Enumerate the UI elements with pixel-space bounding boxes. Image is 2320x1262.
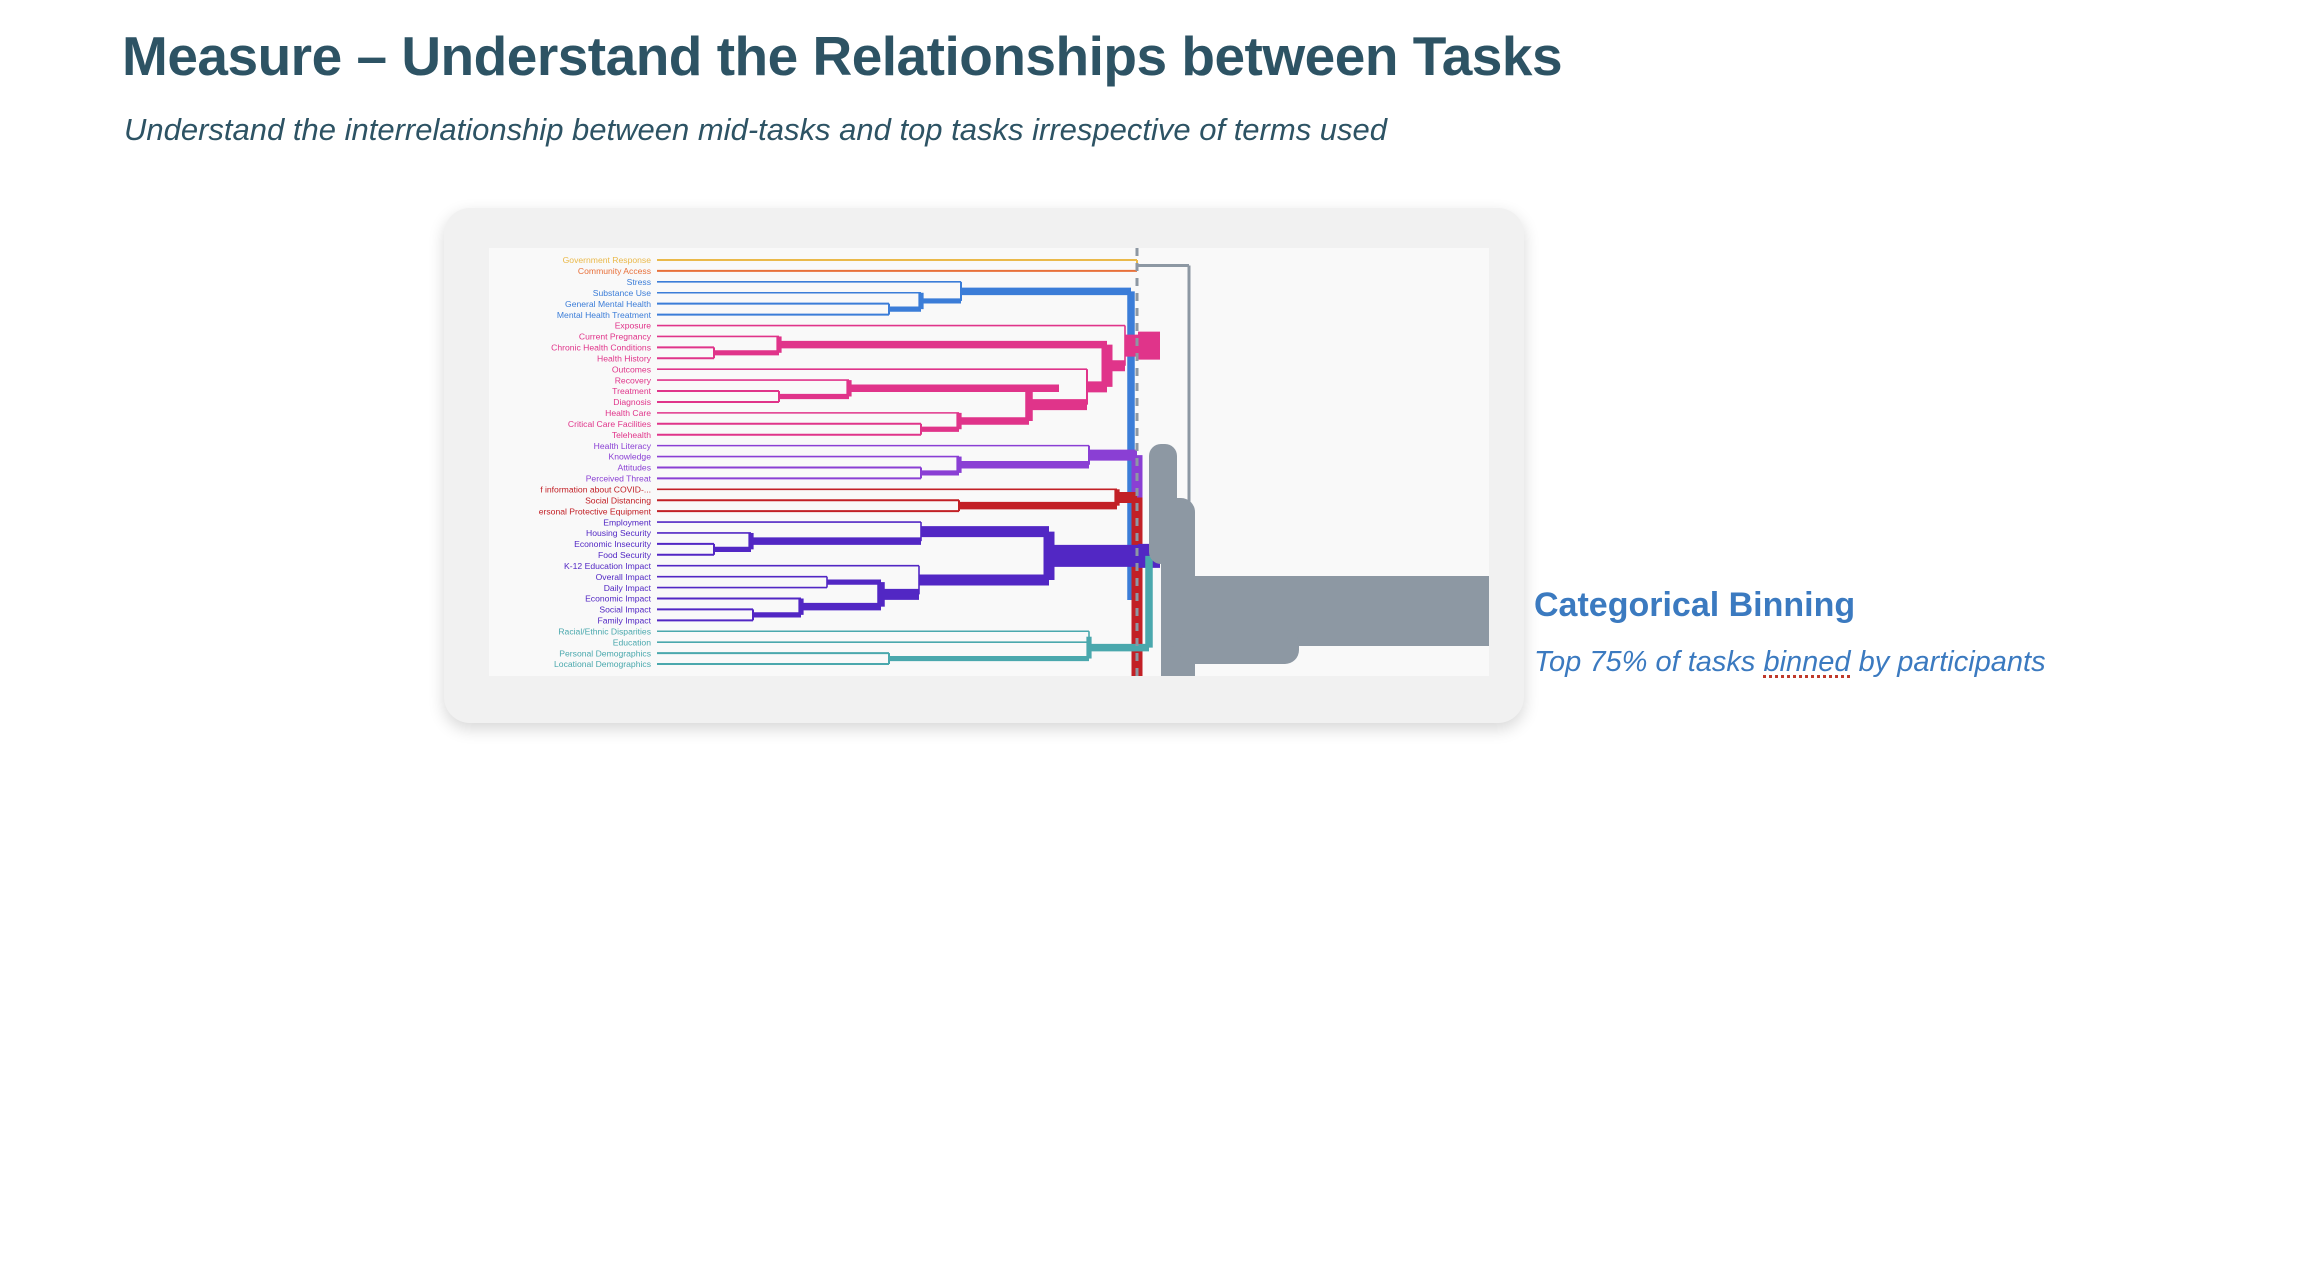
- dendrogram-leaf-label: Economic Impact: [585, 594, 652, 604]
- dendrogram-leaf-label: Health Care: [605, 408, 651, 418]
- dendrogram-leaf-label: Government Response: [563, 255, 652, 265]
- page-title: Measure – Understand the Relationships b…: [122, 24, 1562, 88]
- dendrogram-leaf-label: Recovery: [615, 375, 652, 385]
- dendrogram-leaf-label: K-12 Education Impact: [564, 561, 652, 571]
- dendrogram-leaf-label: Locational Demographics: [554, 659, 651, 669]
- dendrogram-leaf-label: Family Impact: [598, 616, 652, 626]
- callout-subtitle-misspelling: binned: [1763, 646, 1850, 678]
- dendrogram-leaf-label: Economic Insecurity: [574, 539, 652, 549]
- dendrogram-leaf-label: ersonal Protective Equipment: [539, 506, 652, 516]
- dendrogram-leaf-label: Mental Health Treatment: [557, 310, 652, 320]
- dendrogram-leaf-label: Telehealth: [612, 430, 651, 440]
- dendrogram-leaf-label: Social Distancing: [585, 495, 651, 505]
- dendrogram-leaf-label: Community Access: [578, 266, 651, 276]
- dendrogram-leaf-label: Food Security: [598, 550, 652, 560]
- dendrogram-leaf-label: Substance Use: [593, 288, 652, 298]
- dendrogram-leaf-label: Chronic Health Conditions: [551, 343, 651, 353]
- dendrogram-leaf-label: Knowledge: [608, 452, 651, 462]
- dendrogram-leaf-label: Outcomes: [612, 364, 651, 374]
- dendrogram-leaf-label: Perceived Threat: [586, 474, 652, 484]
- dendrogram-leaf-label: Attitudes: [618, 463, 651, 473]
- dendrogram-leaf-label: f information about COVID-...: [540, 484, 651, 494]
- root-join-lower: [1179, 630, 1299, 664]
- dendrogram-leaf-label: Employment: [603, 517, 651, 527]
- dendrogram-leaf-label: Education: [613, 637, 651, 647]
- dendrogram-leaf-label: Treatment: [612, 386, 651, 396]
- callout-title: Categorical Binning: [1534, 586, 1855, 625]
- dendrogram-leaf-label: Housing Security: [586, 528, 652, 538]
- dendrogram-leaf-label: Stress: [627, 277, 651, 287]
- dendrogram-leaf-label: General Mental Health: [565, 299, 651, 309]
- dendrogram-leaf-label: Social Impact: [599, 605, 651, 615]
- callout-subtitle: Top 75% of tasks binned by participants: [1534, 646, 2046, 679]
- dendrogram-leaf-label: Current Pregnancy: [579, 332, 652, 342]
- dendrogram-leaf-label: Exposure: [615, 321, 652, 331]
- dendrogram-leaf-label: Health History: [597, 353, 652, 363]
- dendrogram-chart: Government ResponseCommunity AccessStres…: [489, 248, 1489, 676]
- page-subtitle: Understand the interrelationship between…: [124, 112, 1387, 148]
- dendrogram-leaf-label: Health Literacy: [594, 441, 652, 451]
- slide-root: Measure – Understand the Relationships b…: [0, 0, 2320, 1262]
- dendrogram-leaf-label: Critical Care Facilities: [568, 419, 651, 429]
- chart-card: Government ResponseCommunity AccessStres…: [444, 208, 1524, 723]
- dendrogram-leaf-label: Racial/Ethnic Disparities: [558, 626, 651, 636]
- dendrogram-plot-area: Government ResponseCommunity AccessStres…: [489, 248, 1489, 676]
- callout-subtitle-pre: Top 75% of tasks: [1534, 646, 1763, 678]
- callout-subtitle-post: by participants: [1851, 646, 2046, 678]
- dendrogram-leaf-label: Daily Impact: [604, 583, 652, 593]
- dendrogram-leaf-label: Overall Impact: [596, 572, 652, 582]
- dendrogram-leaf-label: Personal Demographics: [559, 648, 651, 658]
- dendrogram-leaf-label: Diagnosis: [613, 397, 651, 407]
